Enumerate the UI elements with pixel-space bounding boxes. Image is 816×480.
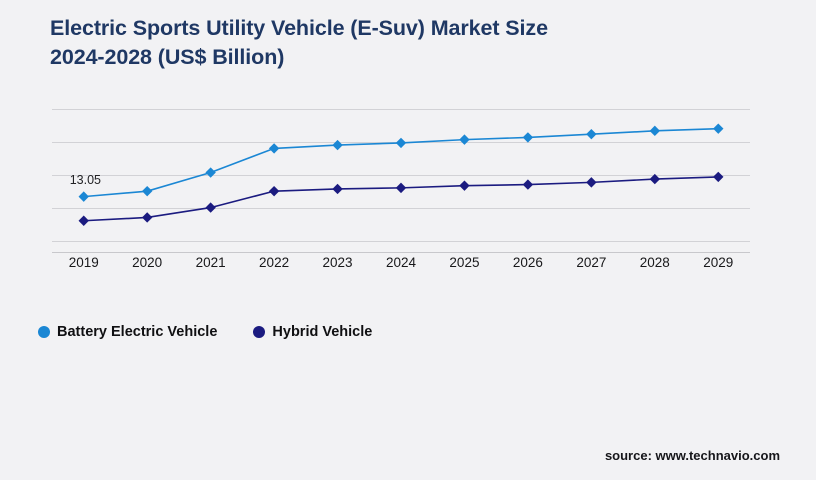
legend-marker-icon: [38, 326, 50, 338]
data-point-marker[interactable]: [332, 184, 342, 194]
data-point-marker[interactable]: [586, 177, 596, 187]
data-point-marker[interactable]: [459, 180, 469, 190]
x-axis-label: 2023: [306, 255, 370, 270]
legend-item-label: Battery Electric Vehicle: [57, 324, 217, 340]
data-point-marker[interactable]: [396, 183, 406, 193]
data-point-marker[interactable]: [332, 140, 342, 150]
data-point-label: 13.05: [70, 173, 101, 187]
data-point-marker[interactable]: [79, 216, 89, 226]
chart-container: Electric Sports Utility Vehicle (E-Suv) …: [0, 0, 816, 480]
x-axis-label: 2026: [496, 255, 560, 270]
data-point-marker[interactable]: [396, 138, 406, 148]
x-axis-labels: 2019202020212022202320242025202620272028…: [52, 255, 750, 277]
data-point-marker[interactable]: [650, 174, 660, 184]
chart-title-line-1: Electric Sports Utility Vehicle (E-Suv) …: [50, 16, 548, 40]
data-point-marker[interactable]: [205, 167, 215, 177]
source-note: source: www.technavio.com: [605, 448, 780, 463]
x-axis-label: 2020: [115, 255, 179, 270]
chart-legend: Battery Electric VehicleHybrid Vehicle: [38, 324, 372, 340]
data-point-marker[interactable]: [79, 191, 89, 201]
x-axis-label: 2021: [179, 255, 243, 270]
data-point-marker[interactable]: [142, 212, 152, 222]
x-axis-label: 2029: [686, 255, 750, 270]
legend-item[interactable]: Battery Electric Vehicle: [38, 324, 217, 340]
data-point-marker[interactable]: [713, 123, 723, 133]
legend-item-label: Hybrid Vehicle: [272, 324, 372, 340]
x-axis-label: 2022: [242, 255, 306, 270]
x-axis-label: 2027: [559, 255, 623, 270]
data-point-marker[interactable]: [269, 186, 279, 196]
data-point-marker[interactable]: [205, 202, 215, 212]
data-point-marker[interactable]: [523, 179, 533, 189]
chart-series-layer: [52, 100, 752, 256]
data-point-marker[interactable]: [523, 132, 533, 142]
x-axis-label: 2019: [52, 255, 116, 270]
legend-item[interactable]: Hybrid Vehicle: [253, 324, 372, 340]
data-point-marker[interactable]: [713, 172, 723, 182]
x-axis-label: 2024: [369, 255, 433, 270]
data-point-marker[interactable]: [269, 143, 279, 153]
data-point-marker[interactable]: [586, 129, 596, 139]
legend-marker-icon: [253, 326, 265, 338]
x-axis-label: 2025: [432, 255, 496, 270]
chart-title: Electric Sports Utility Vehicle (E-Suv) …: [50, 14, 740, 72]
data-point-marker[interactable]: [142, 186, 152, 196]
series-hybrid-vehicle: [79, 172, 724, 226]
data-point-marker[interactable]: [459, 134, 469, 144]
data-point-marker[interactable]: [650, 126, 660, 136]
chart-title-line-2: 2024-2028 (US$ Billion): [50, 45, 284, 69]
x-axis-label: 2028: [623, 255, 687, 270]
